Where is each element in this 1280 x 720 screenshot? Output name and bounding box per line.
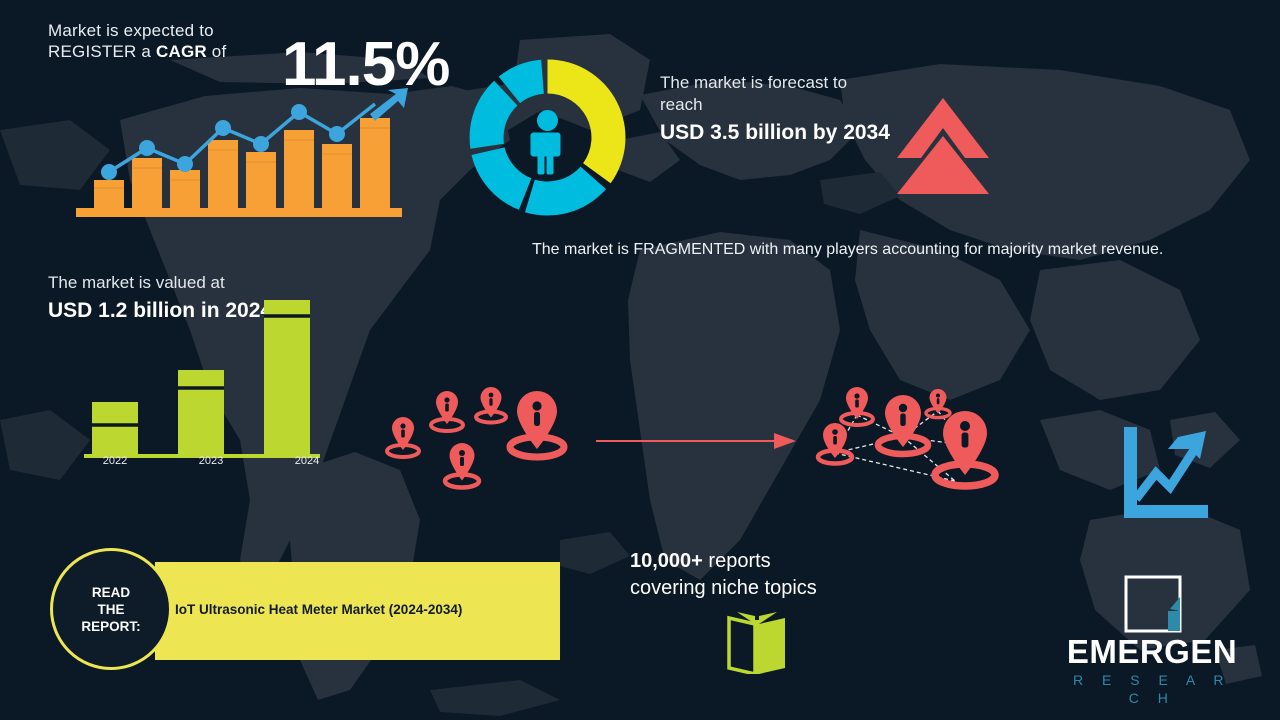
market-share-donut — [465, 55, 630, 220]
bar-2024 — [264, 300, 310, 454]
map-pin-person-icon — [935, 411, 995, 486]
bar-2 — [132, 158, 162, 208]
emergen-research-logo: EMERGEN R E S E A R C H — [1062, 575, 1242, 695]
map-pin-person-icon — [431, 391, 463, 431]
reports-subtitle: covering niche topics — [630, 575, 900, 602]
map-pin-person-icon — [445, 443, 479, 488]
growth-bars — [94, 118, 390, 208]
person-icon — [531, 110, 561, 175]
logo-square-icon — [1124, 575, 1182, 633]
trend-arrow-icon — [370, 88, 408, 121]
pin-cluster-right — [805, 385, 1015, 505]
cagr-keyword: CAGR — [156, 42, 207, 61]
growth-bar-chart — [70, 88, 410, 220]
read-line-2: THE — [97, 602, 124, 617]
bar-1 — [94, 180, 124, 208]
bar-2022 — [92, 402, 138, 454]
cagr-lead-post: of — [207, 42, 227, 61]
year-label-2023: 2023 — [181, 455, 241, 467]
infographic-canvas: Market is expected to REGISTER a CAGR of… — [0, 0, 1280, 720]
cagr-value: 11.5% — [282, 34, 449, 96]
map-pin-person-icon — [476, 387, 506, 423]
forecast-lead: The market is forecast to reach — [660, 72, 890, 116]
cagr-lead-pre: REGISTER a — [48, 42, 156, 61]
reports-count: 10,000+ — [630, 550, 703, 572]
forecast-value: USD 3.5 billion by 2034 — [660, 120, 890, 146]
bar-8 — [360, 118, 390, 208]
valuation-bar-chart — [70, 290, 340, 470]
map-pin-person-icon — [926, 389, 950, 418]
forecast-block: The market is forecast to reach USD 3.5 … — [660, 72, 890, 146]
chart-baseline — [76, 208, 402, 217]
year-label-2022: 2022 — [85, 455, 145, 467]
trending-up-chart-icon — [1118, 425, 1208, 520]
read-the-report-label: READ THE REPORT: — [81, 584, 140, 635]
bar-3 — [170, 170, 200, 208]
year-label-2024: 2024 — [277, 455, 337, 467]
reports-stat-block: 10,000+ reports covering niche topics — [630, 548, 900, 602]
fragmentation-text: The market is FRAGMENTED with many playe… — [532, 238, 1222, 261]
map-pin-person-icon — [841, 387, 873, 425]
map-pin-person-icon — [387, 417, 419, 457]
slice-other-b — [472, 147, 532, 209]
logo-tagline: R E S E A R C H — [1062, 671, 1242, 707]
bar-5 — [246, 152, 276, 208]
reports-count-suffix: reports — [703, 550, 771, 572]
slice-leading — [548, 60, 626, 184]
cagr-block: Market is expected to REGISTER a CAGR of… — [48, 20, 468, 62]
double-up-chevron-icon — [893, 96, 993, 196]
pin-cluster-left — [385, 385, 585, 495]
bar-6 — [284, 130, 314, 208]
read-line-1: READ — [92, 585, 130, 600]
slice-other-a — [525, 167, 606, 216]
logo-wordmark: EMERGEN — [1062, 633, 1242, 671]
read-the-report-button[interactable]: READ THE REPORT: — [50, 548, 172, 670]
map-pin-person-icon — [510, 391, 564, 457]
open-book-icon — [723, 612, 791, 674]
bar-2023 — [178, 370, 224, 454]
reports-count-line: 10,000+ reports — [630, 548, 900, 575]
report-title[interactable]: IoT Ultrasonic Heat Meter Market (2024-2… — [175, 602, 555, 617]
map-pin-person-icon — [818, 423, 852, 464]
read-line-3: REPORT: — [81, 619, 140, 634]
right-arrow-icon — [596, 430, 796, 452]
